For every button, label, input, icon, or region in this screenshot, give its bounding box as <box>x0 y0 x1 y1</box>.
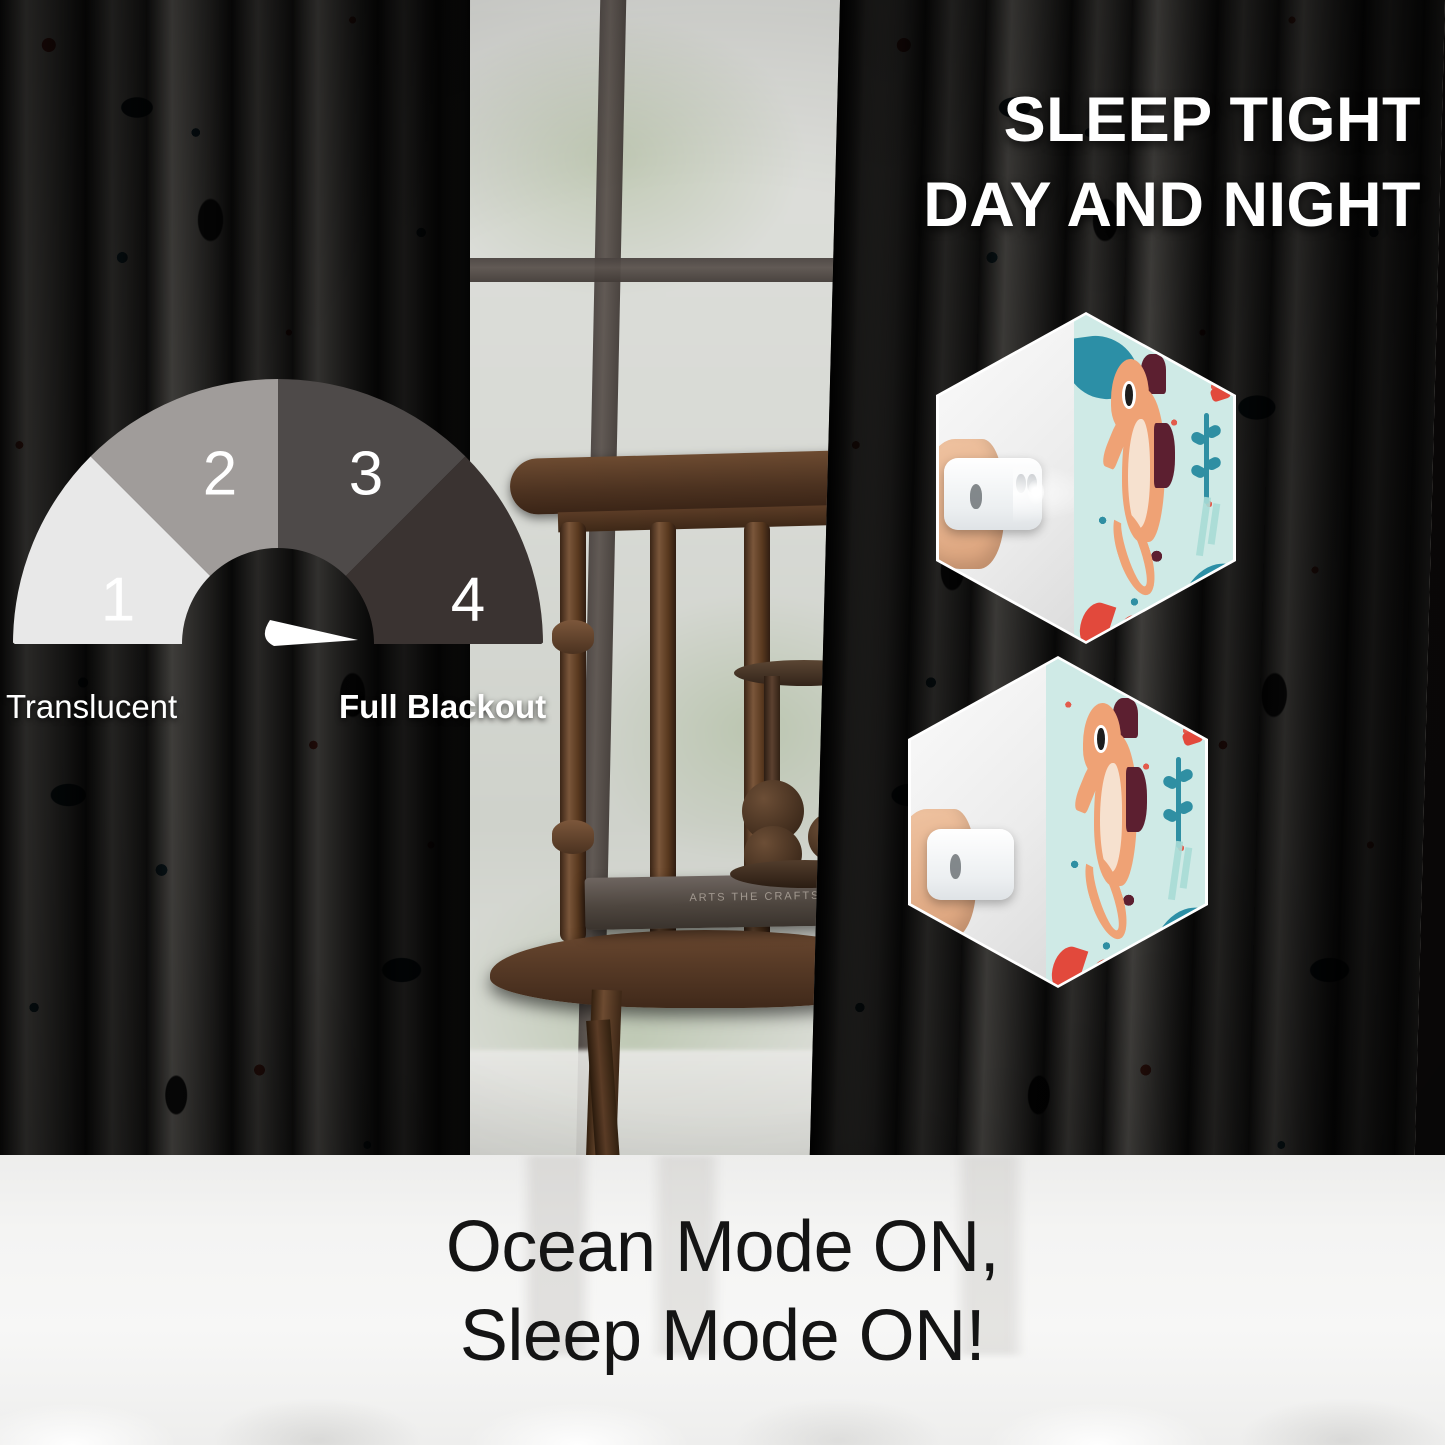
gauge-segment-1-number: 1 <box>101 565 135 634</box>
coral-motif <box>1161 757 1196 848</box>
seahorse-motif <box>1109 354 1182 602</box>
gauge-segment-3-number: 3 <box>349 439 383 508</box>
gauge-segment-4-number: 4 <box>451 565 485 634</box>
chair-turned-detail <box>552 620 594 654</box>
hexagon-photo-half <box>911 659 1046 985</box>
gauge-labels: Translucent Full Blackout <box>0 688 600 734</box>
hexagon-photo-half <box>939 315 1074 641</box>
headline: SLEEP TIGHT DAY AND NIGHT <box>923 78 1421 248</box>
headline-line-2: DAY AND NIGHT <box>923 163 1421 248</box>
gauge-label-full-blackout: Full Blackout <box>339 688 546 726</box>
chair-turned-detail <box>552 820 594 854</box>
seahorse-motif <box>1081 698 1154 946</box>
apple-logo-icon <box>950 854 961 878</box>
gauge-segment-2-number: 2 <box>203 439 237 508</box>
product-infographic: ARTS THE CRAFTS SLEEP TIGHT <box>0 0 1445 1445</box>
gauge-label-translucent: Translucent <box>6 688 177 726</box>
bottom-caption-band: Ocean Mode ON, Sleep Mode ON! <box>0 1155 1445 1445</box>
gauge-svg: 1 2 3 4 <box>8 352 548 652</box>
hexagon-fabric-half <box>1046 659 1205 985</box>
smartphone <box>944 458 1041 530</box>
hexagon-inner <box>939 315 1233 641</box>
apple-logo-icon <box>970 484 983 508</box>
gauge-needle <box>265 620 358 646</box>
flashlight-beam <box>1013 464 1075 521</box>
hexagon-fabric-half <box>1074 315 1233 641</box>
caption: Ocean Mode ON, Sleep Mode ON! <box>0 1203 1445 1382</box>
caption-line-1: Ocean Mode ON, <box>0 1203 1445 1292</box>
flashlight-on-hexagon[interactable] <box>936 312 1236 644</box>
hexagon-inner <box>911 659 1205 985</box>
blackout-level-gauge: 1 2 3 4 <box>8 352 548 652</box>
smartphone <box>927 829 1014 901</box>
flashlight-off-hexagon[interactable] <box>908 656 1208 988</box>
headline-line-1: SLEEP TIGHT <box>923 78 1421 163</box>
hexagon-callouts <box>908 312 1278 1012</box>
coral-motif <box>1189 413 1224 504</box>
caption-line-2: Sleep Mode ON! <box>0 1292 1445 1381</box>
window-mullion-horizontal <box>455 258 876 282</box>
